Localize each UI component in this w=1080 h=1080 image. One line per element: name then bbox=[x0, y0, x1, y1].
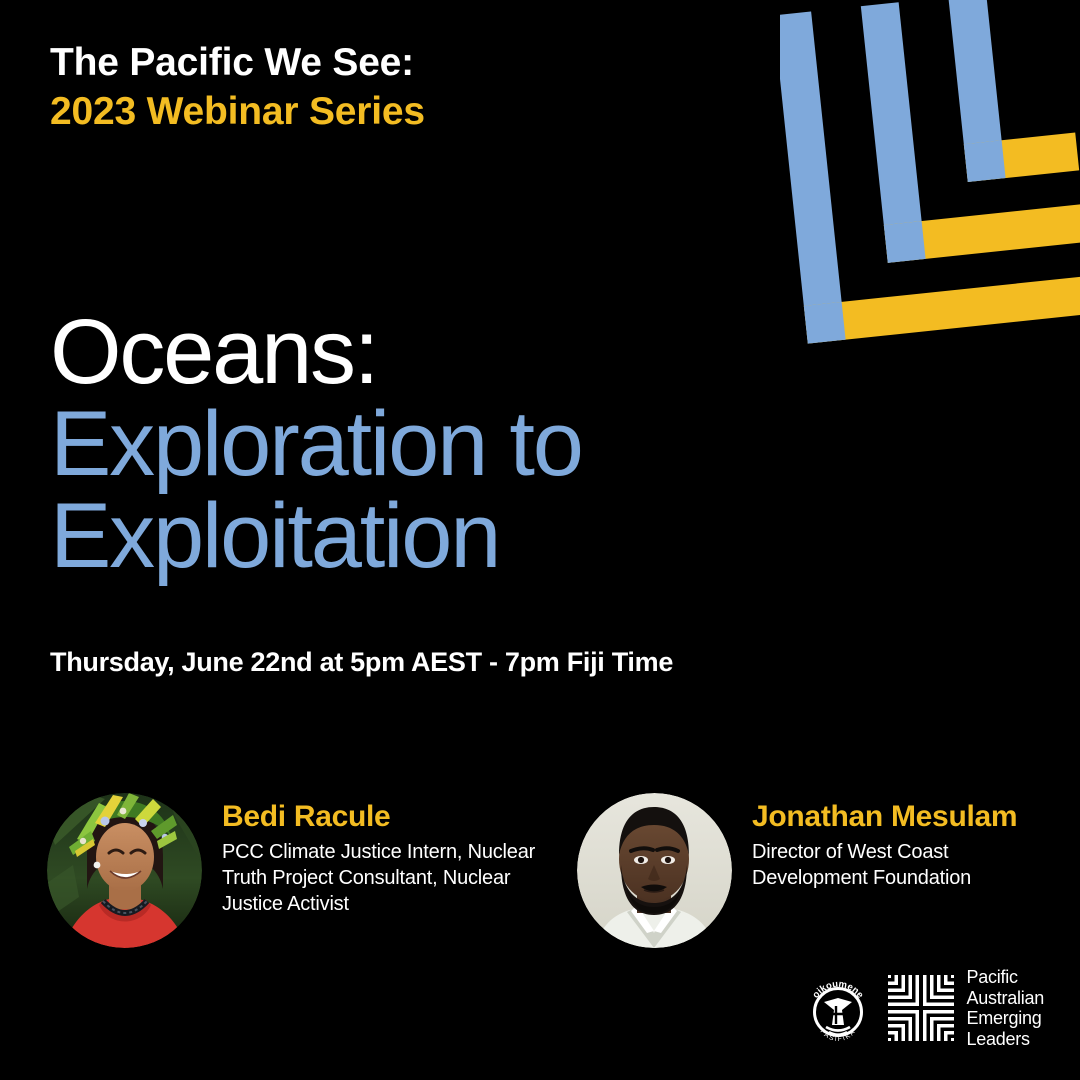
speaker-info: Jonathan Mesulam Director of West Coast … bbox=[732, 793, 1047, 891]
speaker-role: Director of West Coast Development Found… bbox=[752, 839, 1047, 891]
title-line-1: Oceans: bbox=[50, 306, 810, 398]
footer-logos: oikoumene PASIFIKA bbox=[802, 968, 1044, 1048]
page-title: Oceans: Exploration to Exploitation bbox=[50, 306, 810, 582]
chevron-decoration bbox=[780, 0, 1080, 372]
speaker-card: Jonathan Mesulam Director of West Coast … bbox=[577, 793, 1047, 948]
series-heading: The Pacific We See: 2023 Webinar Series bbox=[50, 38, 650, 136]
pael-mark-icon bbox=[888, 975, 954, 1041]
chevron-middle bbox=[855, 0, 1080, 263]
speaker-card: Bedi Racule PCC Climate Justice Intern, … bbox=[47, 793, 547, 948]
chevron-outer bbox=[780, 0, 1080, 344]
pael-word-line3: Emerging bbox=[966, 1008, 1044, 1029]
speaker-list: Bedi Racule PCC Climate Justice Intern, … bbox=[0, 793, 1080, 963]
series-title-line1: The Pacific We See: bbox=[50, 38, 650, 87]
svg-text:oikoumene: oikoumene bbox=[811, 979, 866, 1001]
webinar-poster: The Pacific We See: 2023 Webinar Series … bbox=[0, 0, 1080, 1080]
pael-word-line4: Leaders bbox=[966, 1029, 1044, 1050]
avatar bbox=[47, 793, 202, 948]
pael-wordmark: Pacific Australian Emerging Leaders bbox=[966, 967, 1044, 1049]
title-line-2: Exploration to bbox=[50, 398, 810, 490]
event-datetime: Thursday, June 22nd at 5pm AEST - 7pm Fi… bbox=[50, 645, 673, 679]
speaker-info: Bedi Racule PCC Climate Justice Intern, … bbox=[202, 793, 542, 917]
pael-word-line1: Pacific bbox=[966, 967, 1044, 988]
speaker-role: PCC Climate Justice Intern, Nuclear Trut… bbox=[222, 839, 542, 917]
speaker-name: Bedi Racule bbox=[222, 799, 542, 835]
series-title-line2: 2023 Webinar Series bbox=[50, 87, 650, 136]
chevron-inner bbox=[942, 0, 1080, 182]
pael-word-line2: Australian bbox=[966, 988, 1044, 1009]
speaker-name: Jonathan Mesulam bbox=[752, 799, 1047, 835]
oikoumene-pasifika-logo-icon: oikoumene PASIFIKA bbox=[802, 970, 874, 1046]
pael-logo: Pacific Australian Emerging Leaders bbox=[888, 967, 1044, 1049]
title-line-3: Exploitation bbox=[50, 490, 810, 582]
avatar bbox=[577, 793, 732, 948]
